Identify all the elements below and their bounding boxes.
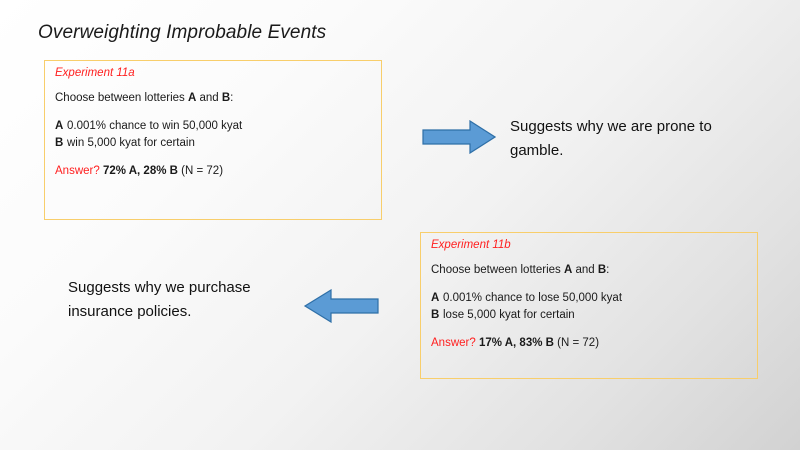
experiment-a-prompt-before: Choose between lotteries (55, 92, 188, 104)
experiment-b-prompt-before: Choose between lotteries (431, 264, 564, 276)
experiment-a-prompt-mid: and (196, 92, 222, 104)
experiment-b-options: A0.001% chance to lose 50,000 kyat Blose… (431, 290, 749, 324)
slide-canvas: Overweighting Improbable Events Experime… (0, 0, 800, 450)
arrow-right-icon (422, 120, 496, 154)
experiment-a-options: A0.001% chance to win 50,000 kyat Bwin 5… (55, 118, 373, 152)
experiment-b-label: Experiment 11b (431, 239, 749, 251)
experiment-b-option-b-key: B (431, 307, 443, 324)
arrow-right-polygon (423, 121, 495, 153)
experiment-panel-b: Experiment 11b Choose between lotteries … (420, 232, 758, 379)
experiment-b-content: Experiment 11b Choose between lotteries … (431, 239, 749, 349)
experiment-b-prompt-after: : (606, 264, 609, 276)
experiment-b-answer-lead: Answer? (431, 337, 476, 349)
experiment-b-prompt: Choose between lotteries A and B: (431, 264, 749, 276)
experiment-b-prompt-mid: and (572, 264, 598, 276)
experiment-a-prompt-after: : (230, 92, 233, 104)
experiment-a-option-b: Bwin 5,000 kyat for certain (55, 135, 373, 152)
experiment-b-answer: Answer? 17% A, 83% B (N = 72) (431, 337, 749, 349)
experiment-a-prompt: Choose between lotteries A and B: (55, 92, 373, 104)
page-title: Overweighting Improbable Events (38, 22, 326, 44)
arrow-right-shape (422, 120, 496, 154)
experiment-a-prompt-b: B (222, 92, 230, 104)
experiment-a-answer-result: 72% A, 28% B (103, 165, 178, 177)
experiment-b-answer-n: (N = 72) (557, 337, 599, 349)
experiment-b-answer-result: 17% A, 83% B (479, 337, 554, 349)
experiment-a-answer-lead: Answer? (55, 165, 100, 177)
experiment-b-option-b: Blose 5,000 kyat for certain (431, 307, 749, 324)
experiment-b-option-a: A0.001% chance to lose 50,000 kyat (431, 290, 749, 307)
experiment-a-option-a: A0.001% chance to win 50,000 kyat (55, 118, 373, 135)
experiment-a-label: Experiment 11a (55, 67, 373, 79)
experiment-b-option-a-text: 0.001% chance to lose 50,000 kyat (443, 292, 622, 304)
experiment-b-option-a-key: A (431, 290, 443, 307)
experiment-a-answer: Answer? 72% A, 28% B (N = 72) (55, 165, 373, 177)
experiment-a-answer-n: (N = 72) (181, 165, 223, 177)
experiment-a-option-a-text: 0.001% chance to win 50,000 kyat (67, 120, 242, 132)
experiment-b-prompt-b: B (598, 264, 606, 276)
experiment-b-option-b-text: lose 5,000 kyat for certain (443, 309, 575, 321)
experiment-panel-a: Experiment 11a Choose between lotteries … (44, 60, 382, 220)
callout-insurance: Suggests why we purchase insurance polic… (68, 276, 318, 324)
experiment-a-option-b-key: B (55, 135, 67, 152)
experiment-a-option-a-key: A (55, 118, 67, 135)
experiment-a-content: Experiment 11a Choose between lotteries … (55, 67, 373, 177)
callout-gamble: Suggests why we are prone to gamble. (510, 115, 740, 163)
experiment-a-option-b-text: win 5,000 kyat for certain (67, 137, 195, 149)
